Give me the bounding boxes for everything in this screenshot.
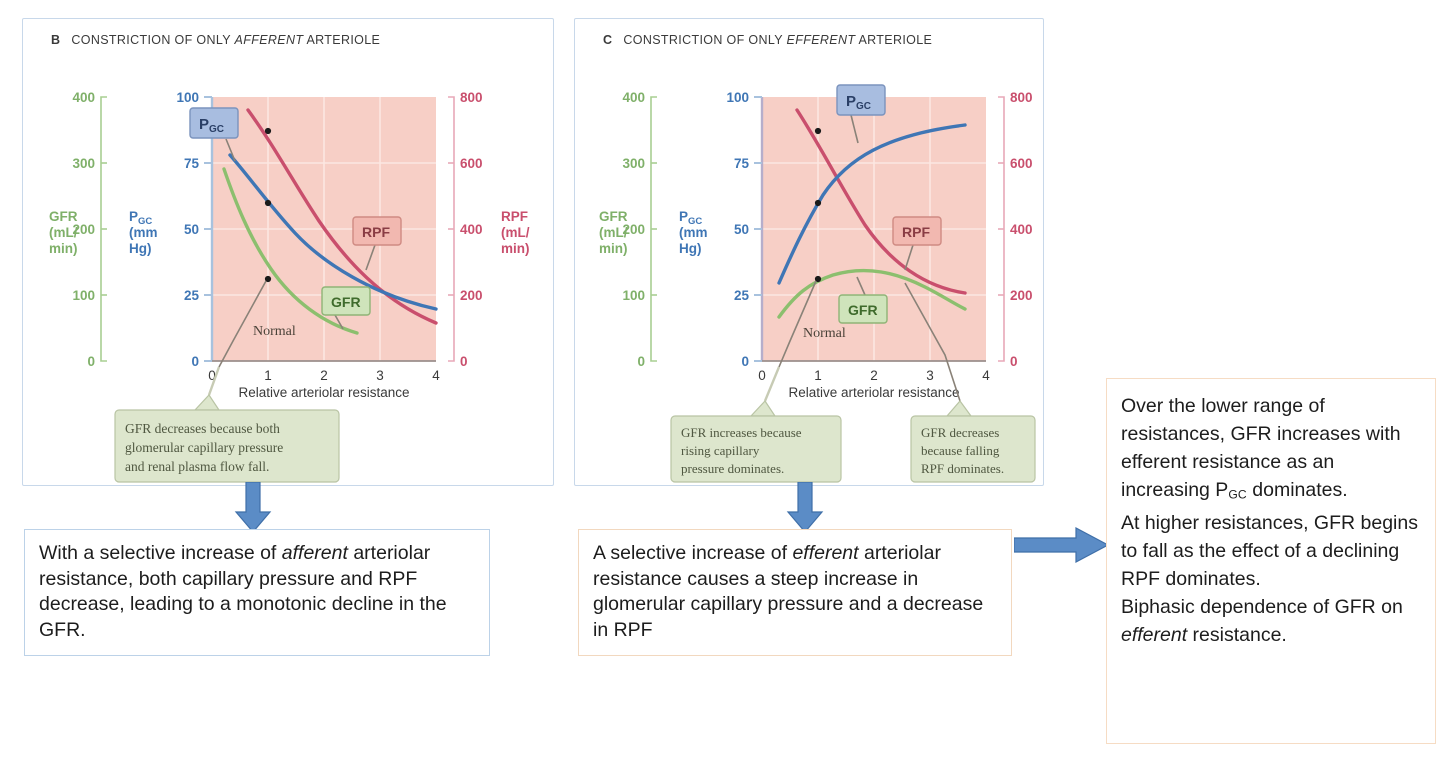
- panel-b-title-italic: AFFERENT: [235, 33, 304, 47]
- pgc-axis-label-line3-b: Hg): [129, 241, 152, 256]
- callout-c-right-line-1: GFR decreases: [921, 425, 999, 440]
- gfr-tick-0-c: 0: [637, 354, 645, 369]
- rpf-tag-text-b: RPF: [362, 224, 390, 240]
- stmt-c-italic: efferent: [792, 542, 858, 564]
- rpf-tick-0-c: 0: [1010, 354, 1018, 369]
- pgc-tag-sub-c: GC: [856, 101, 871, 112]
- x-tick-3-b: 3: [376, 368, 384, 383]
- panel-c-letter: C: [603, 33, 612, 47]
- gfr-axis-label-line2-b: (mL/: [49, 225, 78, 240]
- rpf-tick-800-b: 800: [460, 90, 483, 105]
- rpf-tag-text-c: RPF: [902, 224, 930, 240]
- summary-p3-text-a: Biphasic dependence of GFR on: [1121, 596, 1403, 618]
- gfr-tick-100-b: 100: [72, 288, 95, 303]
- callout-c-right: GFR decreases because falling RPF domina…: [911, 401, 1035, 482]
- pgc-tick-50-b: 50: [184, 222, 199, 237]
- rpf-axis-label-line1-b: RPF: [501, 209, 528, 224]
- stmt-b-italic: afferent: [282, 542, 348, 564]
- chart-afferent: 400 300 200 100 0 GFR (mL/ min): [23, 55, 553, 483]
- summary-p3-text-b: resistance.: [1187, 624, 1287, 646]
- panel-afferent: BCONSTRICTION OF ONLY AFFERENT ARTERIOLE: [22, 18, 554, 486]
- gfr-axis-label-line3-b: min): [49, 241, 78, 256]
- x-tick-0-c: 0: [758, 368, 766, 383]
- summary-paragraph-2: At higher resistances, GFR begins to fal…: [1121, 509, 1421, 593]
- normal-point-pgc-c: [815, 200, 821, 206]
- pgc-axis-label-line2-b: (mm: [129, 225, 158, 240]
- x-tick-4-b: 4: [432, 368, 440, 383]
- x-axis-c: 0 1 2 3 4 Relative arteriolar resistance: [758, 361, 990, 400]
- gfr-tag-text-b: GFR: [331, 294, 361, 310]
- rpf-tick-0-b: 0: [460, 354, 468, 369]
- arrow-down-c-icon: [785, 482, 825, 534]
- gfr-tag-text-c: GFR: [848, 302, 878, 318]
- panel-c-title-text-2: ARTERIOLE: [855, 33, 932, 47]
- panel-b-title: BCONSTRICTION OF ONLY AFFERENT ARTERIOLE: [51, 33, 380, 47]
- normal-leader-tail-c: [765, 367, 779, 401]
- summary-p1-subscript: GC: [1228, 488, 1247, 502]
- pgc-tick-25-c: 25: [734, 288, 750, 303]
- rpf-tick-800-c: 800: [1010, 90, 1033, 105]
- statement-afferent: With a selective increase of afferent ar…: [24, 529, 490, 656]
- panel-c-title-italic: EFFERENT: [787, 33, 856, 47]
- callout-b-line-2: glomerular capillary pressure: [125, 440, 283, 455]
- pgc-tick-25-b: 25: [184, 288, 200, 303]
- pgc-tick-75-c: 75: [734, 156, 750, 171]
- normal-point-pgc-b: [265, 200, 271, 206]
- callout-c-left-line-3: pressure dominates.: [681, 461, 784, 476]
- gfr-axis-label-line2-c: (mL/: [599, 225, 628, 240]
- rpf-tick-600-c: 600: [1010, 156, 1033, 171]
- x-tick-2-b: 2: [320, 368, 328, 383]
- callout-b: GFR decreases because both glomerular ca…: [115, 395, 339, 482]
- pgc-tag-text-b: P: [199, 116, 209, 133]
- callout-b-pointer: [195, 395, 219, 410]
- pgc-tick-50-c: 50: [734, 222, 749, 237]
- x-axis-b: 0 1 2 3 4 Relative arteriolar resistance: [208, 361, 440, 400]
- x-tick-2-c: 2: [870, 368, 878, 383]
- x-tick-1-c: 1: [814, 368, 822, 383]
- callout-c-right-line-3: RPF dominates.: [921, 461, 1004, 476]
- gfr-tick-300-c: 300: [622, 156, 645, 171]
- callout-c-right-pointer: [947, 401, 971, 416]
- gfr-axis-label-line3-c: min): [599, 241, 628, 256]
- rpf-tick-400-b: 400: [460, 222, 483, 237]
- statement-summary: Over the lower range of resistances, GFR…: [1106, 378, 1436, 744]
- summary-paragraph-1: Over the lower range of resistances, GFR…: [1121, 392, 1421, 509]
- arrow-down-b: [233, 482, 273, 534]
- normal-point-rpf-b: [265, 128, 271, 134]
- chart-efferent-svg: 400 300 200 100 0 GFR (mL/ min): [575, 55, 1043, 483]
- pgc-axis-label-line2-c: (mm: [679, 225, 708, 240]
- pgc-axis-label-line1-b: P: [129, 209, 138, 224]
- x-axis-label-c: Relative arteriolar resistance: [788, 385, 959, 400]
- callout-c-right-line-2: because falling: [921, 443, 1000, 458]
- x-tick-3-c: 3: [926, 368, 934, 383]
- gfr-tick-0-b: 0: [87, 354, 95, 369]
- normal-point-rpf-c: [815, 128, 821, 134]
- normal-label-b: Normal: [253, 324, 296, 339]
- rpf-tick-200-b: 200: [460, 288, 483, 303]
- pgc-axis-label-line3-c: Hg): [679, 241, 702, 256]
- arrow-right-summary: [1014, 525, 1110, 565]
- pgc-axis-c: 100 75 50 25 0 PGC (mm Hg): [679, 90, 762, 369]
- rpf-axis-c: 800 600 400 200 0: [998, 90, 1033, 369]
- pgc-tick-75-b: 75: [184, 156, 200, 171]
- stmt-c-text-1: A selective increase of: [593, 542, 792, 564]
- arrow-right-summary-icon: [1014, 525, 1110, 565]
- chart-afferent-svg: 400 300 200 100 0 GFR (mL/ min): [23, 55, 553, 483]
- pgc-tick-100-c: 100: [726, 90, 749, 105]
- pgc-axis-label-line1-c: P: [679, 209, 688, 224]
- arrow-down-b-icon: [233, 482, 273, 534]
- normal-label-c: Normal: [803, 326, 846, 341]
- rpf-tick-200-c: 200: [1010, 288, 1033, 303]
- stmt-b-text-1: With a selective increase of: [39, 542, 282, 564]
- callout-c-left-pointer: [751, 401, 775, 416]
- x-axis-label-b: Relative arteriolar resistance: [238, 385, 409, 400]
- gfr-axis-c: 400 300 200 100 0 GFR (mL/ min): [599, 90, 657, 369]
- gfr-tick-400-c: 400: [622, 90, 645, 105]
- pgc-tick-0-c: 0: [741, 354, 749, 369]
- gfr-tick-100-c: 100: [622, 288, 645, 303]
- pgc-tick-100-b: 100: [176, 90, 199, 105]
- summary-p3-italic: efferent: [1121, 624, 1187, 646]
- gfr-tick-400-b: 400: [72, 90, 95, 105]
- panel-b-title-text-2: ARTERIOLE: [303, 33, 380, 47]
- chart-efferent: 400 300 200 100 0 GFR (mL/ min): [575, 55, 1043, 483]
- panel-c-title: CCONSTRICTION OF ONLY EFFERENT ARTERIOLE: [603, 33, 932, 47]
- rpf-axis-label-line3-b: min): [501, 241, 530, 256]
- pgc-tick-0-b: 0: [191, 354, 199, 369]
- gfr-axis-label-line1-b: GFR: [49, 209, 78, 224]
- callout-c-left-line-2: rising capillary: [681, 443, 760, 458]
- summary-paragraph-3: Biphasic dependence of GFR on efferent r…: [1121, 593, 1421, 649]
- rpf-axis-b: 800 600 400 200 0 RPF (mL/ min): [448, 90, 530, 369]
- rpf-axis-label-line2-b: (mL/: [501, 225, 530, 240]
- pgc-tag-text-c: P: [846, 93, 856, 110]
- gfr-axis-label-line1-c: GFR: [599, 209, 628, 224]
- arrow-down-c: [785, 482, 825, 534]
- rpf-tick-400-c: 400: [1010, 222, 1033, 237]
- callout-c-left: GFR increases because rising capillary p…: [671, 401, 841, 482]
- callout-c-left-line-1: GFR increases because: [681, 425, 802, 440]
- callout-b-line-3: and renal plasma flow fall.: [125, 459, 269, 474]
- summary-p1-text-b: dominates.: [1247, 479, 1348, 501]
- panel-b-title-text-1: CONSTRICTION OF ONLY: [71, 33, 234, 47]
- x-tick-4-c: 4: [982, 368, 990, 383]
- rpf-tick-600-b: 600: [460, 156, 483, 171]
- callout-b-line-1: GFR decreases because both: [125, 421, 280, 436]
- panel-efferent: CCONSTRICTION OF ONLY EFFERENT ARTERIOLE…: [574, 18, 1044, 486]
- gfr-tick-300-b: 300: [72, 156, 95, 171]
- x-tick-1-b: 1: [264, 368, 272, 383]
- gfr-axis-b: 400 300 200 100 0 GFR (mL/ min): [49, 90, 107, 369]
- pgc-tag-sub-b: GC: [209, 124, 224, 135]
- statement-efferent: A selective increase of efferent arterio…: [578, 529, 1012, 656]
- panel-b-letter: B: [51, 33, 60, 47]
- panel-c-title-text-1: CONSTRICTION OF ONLY: [623, 33, 786, 47]
